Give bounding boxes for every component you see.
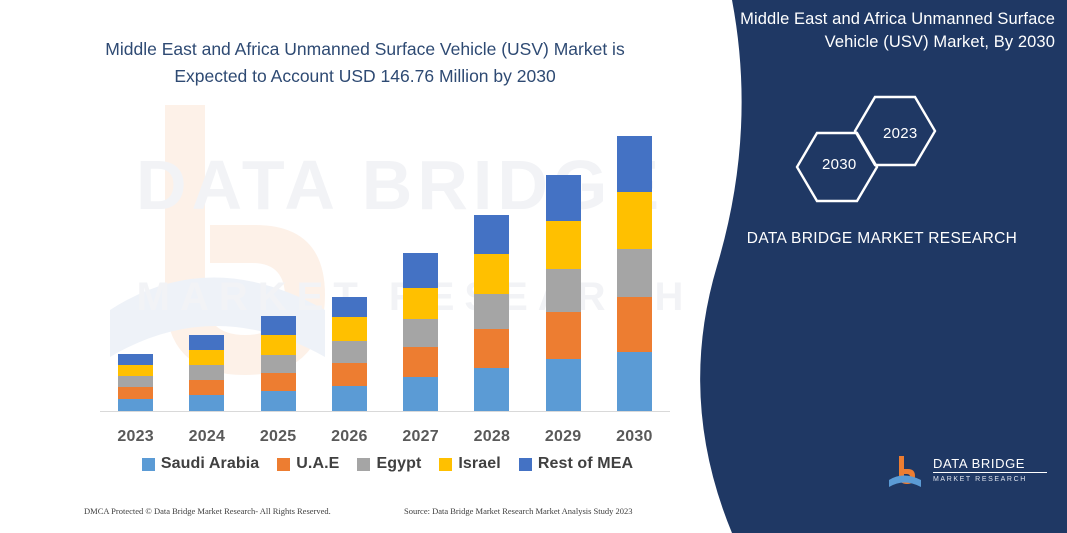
x-axis-label: 2023 — [100, 428, 171, 446]
bar-segment — [546, 312, 581, 359]
bar-segment — [403, 253, 438, 288]
logo-title: DATA BRIDGE — [933, 456, 1047, 473]
bar-segment — [261, 355, 296, 373]
legend-label: Egypt — [376, 455, 421, 473]
bar-segment — [118, 387, 153, 399]
chart-legend: Saudi ArabiaU.A.EEgyptIsraelRest of MEA — [100, 455, 675, 473]
x-axis-label: 2028 — [456, 428, 527, 446]
legend-item[interactable]: U.A.E — [277, 455, 339, 473]
bar-segment — [617, 297, 652, 352]
bar-column — [171, 120, 242, 412]
bar-segment — [474, 368, 509, 412]
bar-segment — [546, 359, 581, 412]
bar-segment — [189, 395, 224, 412]
bar-segment — [332, 341, 367, 363]
x-axis-label: 2026 — [314, 428, 385, 446]
bar-segment — [617, 136, 652, 192]
footer-source: Source: Data Bridge Market Research Mark… — [404, 506, 684, 516]
bar-segment — [189, 350, 224, 365]
bar-column — [100, 120, 171, 412]
x-axis-label: 2025 — [243, 428, 314, 446]
bar-segment — [546, 221, 581, 269]
bar-segment — [189, 335, 224, 350]
bar-segment — [546, 175, 581, 221]
bar-stack — [546, 175, 581, 412]
bar-stack — [617, 136, 652, 412]
legend-label: Rest of MEA — [538, 455, 633, 473]
bar-column — [243, 120, 314, 412]
bar-segment — [189, 365, 224, 380]
bar-segment — [403, 319, 438, 347]
x-axis-label: 2024 — [171, 428, 242, 446]
chart-panel: DATA BRIDGE MARKET RESEARCH Middle East … — [0, 0, 720, 533]
bar-segment — [474, 294, 509, 329]
legend-label: Israel — [458, 455, 500, 473]
legend-swatch-icon — [439, 458, 452, 471]
bar-segment — [617, 192, 652, 249]
bar-segment — [403, 377, 438, 412]
x-axis-label: 2029 — [528, 428, 599, 446]
bar-segment — [118, 376, 153, 387]
bar-column — [314, 120, 385, 412]
bar-segment — [332, 386, 367, 412]
bar-segment — [118, 354, 153, 365]
bar-segment — [261, 391, 296, 412]
bar-stack — [118, 354, 153, 412]
legend-item[interactable]: Egypt — [357, 455, 421, 473]
footer-copyright: DMCA Protected © Data Bridge Market Rese… — [84, 506, 404, 516]
legend-swatch-icon — [142, 458, 155, 471]
bar-column — [385, 120, 456, 412]
x-axis-labels: 20232024202520262027202820292030 — [100, 428, 670, 446]
hexagon-2023-label: 2023 — [883, 125, 918, 142]
x-axis-label: 2027 — [385, 428, 456, 446]
footer: DMCA Protected © Data Bridge Market Rese… — [84, 506, 684, 516]
legend-item[interactable]: Saudi Arabia — [142, 455, 259, 473]
bar-segment — [261, 373, 296, 391]
panel-title: Middle East and Africa Unmanned Surface … — [715, 8, 1055, 55]
bar-series-container — [100, 120, 670, 412]
bar-segment — [332, 363, 367, 386]
bar-segment — [474, 254, 509, 294]
logo-text: DATA BRIDGE MARKET RESEARCH — [933, 456, 1047, 483]
bar-chart-plot — [100, 120, 670, 412]
bar-segment — [332, 297, 367, 317]
bar-segment — [403, 347, 438, 377]
bar-segment — [474, 215, 509, 254]
bar-segment — [474, 329, 509, 368]
legend-swatch-icon — [519, 458, 532, 471]
legend-item[interactable]: Israel — [439, 455, 500, 473]
bar-stack — [332, 297, 367, 412]
hexagon-group: 2023 2030 — [787, 93, 967, 213]
bar-segment — [546, 269, 581, 312]
bar-segment — [118, 365, 153, 376]
legend-label: U.A.E — [296, 455, 339, 473]
bar-segment — [617, 249, 652, 297]
page-title: Middle East and Africa Unmanned Surface … — [70, 36, 660, 90]
bar-column — [599, 120, 670, 412]
bar-segment — [261, 335, 296, 355]
logo: DATA BRIDGE MARKET RESEARCH — [887, 452, 1047, 496]
brand-name: DATA BRIDGE MARKET RESEARCH — [717, 228, 1047, 251]
bar-segment — [189, 380, 224, 395]
bar-segment — [332, 317, 367, 341]
brand-panel: Middle East and Africa Unmanned Surface … — [687, 0, 1067, 533]
legend-swatch-icon — [357, 458, 370, 471]
bar-column — [528, 120, 599, 412]
bar-segment — [403, 288, 438, 319]
bar-segment — [261, 316, 296, 335]
bar-segment — [617, 352, 652, 412]
infographic-root: DATA BRIDGE MARKET RESEARCH Middle East … — [0, 0, 1067, 533]
bar-stack — [474, 215, 509, 412]
logo-tagline: MARKET RESEARCH — [933, 476, 1047, 483]
legend-item[interactable]: Rest of MEA — [519, 455, 633, 473]
legend-swatch-icon — [277, 458, 290, 471]
x-axis-label: 2030 — [599, 428, 670, 446]
bar-stack — [189, 335, 224, 412]
legend-label: Saudi Arabia — [161, 455, 259, 473]
hexagon-2030-label: 2030 — [822, 156, 857, 173]
bar-stack — [403, 253, 438, 412]
x-axis-line — [100, 411, 670, 412]
bar-column — [456, 120, 527, 412]
bar-stack — [261, 316, 296, 412]
